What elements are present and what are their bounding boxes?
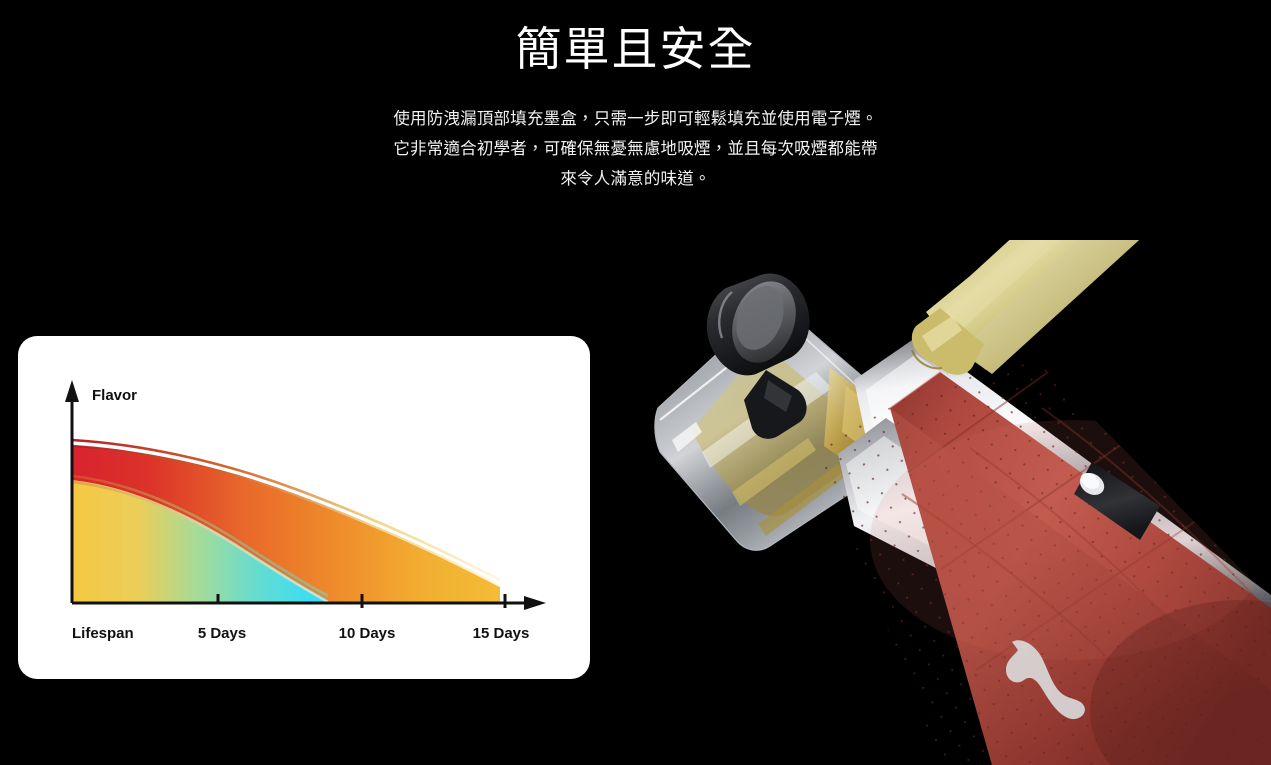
x-tick-label-10-days: 10 Days <box>339 625 396 642</box>
hero-description-line-1: 使用防洩漏頂部填充墨盒，只需一步即可輕鬆填充並使用電子煙。 <box>393 110 877 128</box>
y-axis-label: Flavor <box>92 387 137 404</box>
y-axis-arrow <box>65 380 79 402</box>
x-tick-label-15-days: 15 Days <box>473 625 530 642</box>
hero-description-line-2: 它非常適合初學者，可確保無憂無慮地吸煙，並且每次吸煙都能帶 <box>393 140 877 158</box>
hero-section: 簡單且安全 使用防洩漏頂部填充墨盒，只需一步即可輕鬆填充並使用電子煙。 它非常適… <box>0 0 1271 194</box>
x-tick-label-lifespan: Lifespan <box>72 625 134 642</box>
page-root: { "hero": { "title": "簡單且安全", "body_line… <box>0 0 1271 765</box>
gold-eliquid-bottle <box>912 240 1271 375</box>
flavor-chart-card: Flavor Lifespan 5 Days 10 Days 15 Days <box>18 336 590 679</box>
x-tick-label-5-days: 5 Days <box>198 625 246 642</box>
product-image <box>640 240 1271 765</box>
hero-description-line-3: 來令人滿意的味道。 <box>560 170 710 188</box>
page-title: 簡單且安全 <box>0 0 1271 76</box>
product-illustration <box>640 240 1271 765</box>
flavor-lifespan-chart: Flavor Lifespan 5 Days 10 Days 15 Days <box>18 336 590 679</box>
x-axis-arrow <box>524 596 546 610</box>
hero-description: 使用防洩漏頂部填充墨盒，只需一步即可輕鬆填充並使用電子煙。 它非常適合初學者，可… <box>336 76 936 194</box>
